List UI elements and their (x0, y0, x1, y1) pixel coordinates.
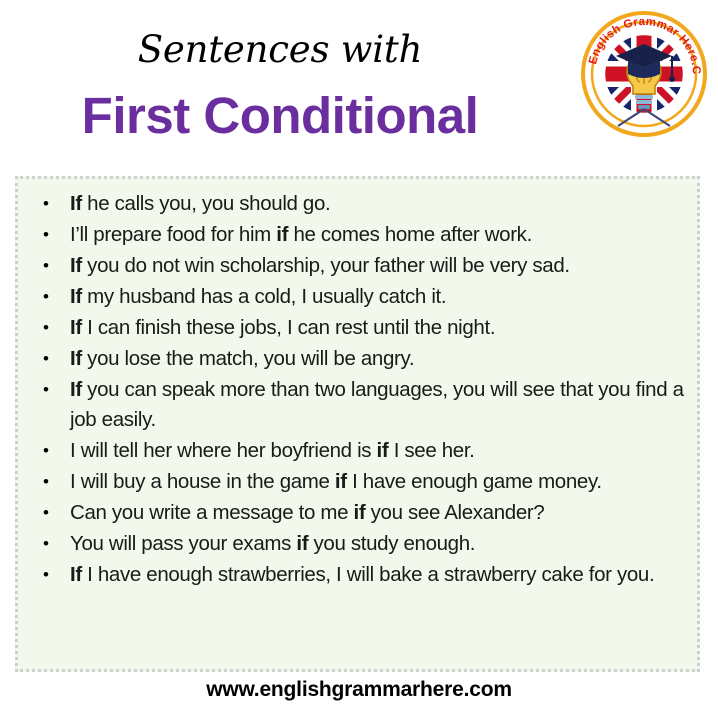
conditional-keyword: if (377, 439, 389, 462)
sentence-text: You will pass your exams (70, 532, 296, 555)
logo-icon: English Grammar Here.Com (578, 8, 710, 140)
sentence-list-panel: If he calls you, you should go.I’ll prep… (15, 176, 700, 672)
sentence-text: you lose the match, you will be angry. (82, 347, 414, 370)
list-item: If he calls you, you should go. (22, 189, 693, 219)
sentence-text: I see her. (388, 439, 474, 462)
conditional-keyword: if (335, 470, 347, 493)
list-item: I will buy a house in the game if I have… (22, 467, 693, 497)
list-item: If you do not win scholarship, your fath… (22, 251, 693, 281)
sentence-text: I can finish these jobs, I can rest unti… (82, 316, 495, 339)
sentence-text: I have enough strawberries, I will bake … (82, 563, 654, 586)
conditional-keyword: If (70, 192, 82, 215)
sentence-text: you see Alexander? (365, 501, 544, 524)
list-item: Can you write a message to me if you see… (22, 498, 693, 528)
sentence-text: Can you write a message to me (70, 501, 353, 524)
page-title: First Conditional (0, 87, 560, 146)
sentence-text: I will tell her where her boyfriend is (70, 439, 377, 462)
page-header: Sentences with First Conditional (0, 0, 718, 176)
page-subtitle: Sentences with (0, 30, 560, 71)
list-item: If my husband has a cold, I usually catc… (22, 282, 693, 312)
conditional-keyword: if (353, 501, 365, 524)
sentence-text: you can speak more than two languages, y… (70, 378, 684, 431)
sentence-list: If he calls you, you should go.I’ll prep… (22, 189, 693, 590)
conditional-keyword: if (276, 223, 288, 246)
title-block: Sentences with First Conditional (0, 0, 560, 145)
list-item: If you lose the match, you will be angry… (22, 344, 693, 374)
sentence-text: you do not win scholarship, your father … (82, 254, 570, 277)
conditional-keyword: If (70, 347, 82, 370)
conditional-keyword: If (70, 316, 82, 339)
list-item: I’ll prepare food for him if he comes ho… (22, 220, 693, 250)
sentence-text: you study enough. (308, 532, 475, 555)
conditional-keyword: if (296, 532, 308, 555)
list-item: If I can finish these jobs, I can rest u… (22, 313, 693, 343)
footer-website[interactable]: www.englishgrammarhere.com (0, 678, 718, 702)
list-item: If you can speak more than two languages… (22, 375, 693, 435)
list-item: You will pass your exams if you study en… (22, 529, 693, 559)
sentence-text: I will buy a house in the game (70, 470, 335, 493)
conditional-keyword: If (70, 254, 82, 277)
conditional-keyword: If (70, 285, 82, 308)
sentence-text: I have enough game money. (347, 470, 602, 493)
sentence-text: he calls you, you should go. (82, 192, 331, 215)
list-item: I will tell her where her boyfriend is i… (22, 436, 693, 466)
sentence-text: I’ll prepare food for him (70, 223, 276, 246)
conditional-keyword: If (70, 378, 82, 401)
list-item: If I have enough strawberries, I will ba… (22, 560, 693, 590)
sentence-text: he comes home after work. (288, 223, 532, 246)
english-grammar-here-logo[interactable]: English Grammar Here.Com (578, 8, 710, 140)
conditional-keyword: If (70, 563, 82, 586)
sentence-text: my husband has a cold, I usually catch i… (82, 285, 446, 308)
